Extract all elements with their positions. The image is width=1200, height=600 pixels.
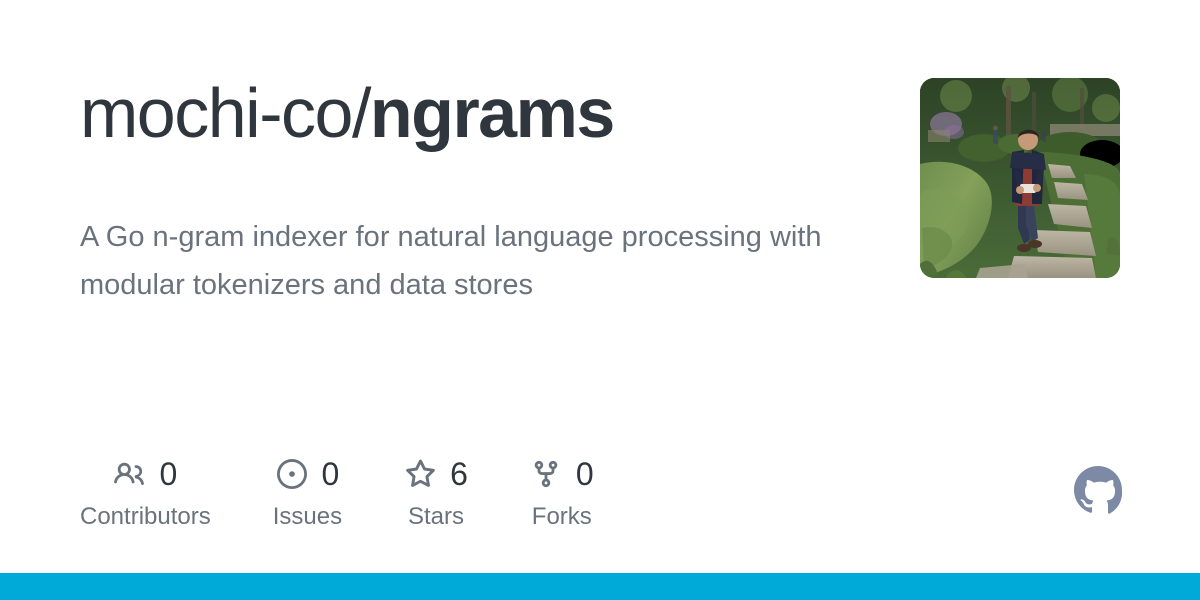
issue-opened-icon bbox=[276, 458, 308, 490]
repo-forked-icon bbox=[530, 458, 562, 490]
repository-name: ngrams bbox=[370, 74, 614, 152]
github-octocat-icon bbox=[1074, 466, 1122, 514]
stat-contributors-label: Contributors bbox=[80, 505, 211, 529]
stat-issues-value: 0 bbox=[322, 458, 340, 490]
repository-owner: mochi-co bbox=[80, 74, 352, 152]
stat-contributors-value: 0 bbox=[159, 458, 177, 490]
accent-bar bbox=[0, 573, 1200, 600]
stat-stars-value-row: 6 bbox=[404, 452, 468, 496]
repository-stats: 0 Contributors 0 Issues bbox=[80, 452, 594, 529]
stat-stars-label: Stars bbox=[408, 505, 464, 529]
avatar-photo bbox=[920, 78, 1120, 278]
stat-forks: 0 Forks bbox=[530, 452, 594, 529]
stat-forks-value-row: 0 bbox=[530, 452, 594, 496]
stat-stars: 6 Stars bbox=[404, 452, 468, 529]
repository-separator: / bbox=[352, 74, 370, 152]
stat-issues: 0 Issues bbox=[273, 452, 342, 529]
stat-forks-value: 0 bbox=[576, 458, 594, 490]
stat-stars-value: 6 bbox=[450, 458, 468, 490]
stat-issues-value-row: 0 bbox=[276, 452, 340, 496]
stat-contributors-value-row: 0 bbox=[113, 452, 177, 496]
people-icon bbox=[113, 458, 145, 490]
star-icon bbox=[404, 458, 436, 490]
repository-description: A Go n-gram indexer for natural language… bbox=[80, 213, 870, 309]
stat-contributors: 0 Contributors bbox=[80, 452, 211, 529]
repository-social-card: mochi-co/ngrams A Go n-gram indexer for … bbox=[0, 0, 1200, 600]
stat-forks-label: Forks bbox=[532, 505, 592, 529]
owner-avatar bbox=[920, 78, 1120, 278]
stat-issues-label: Issues bbox=[273, 505, 342, 529]
